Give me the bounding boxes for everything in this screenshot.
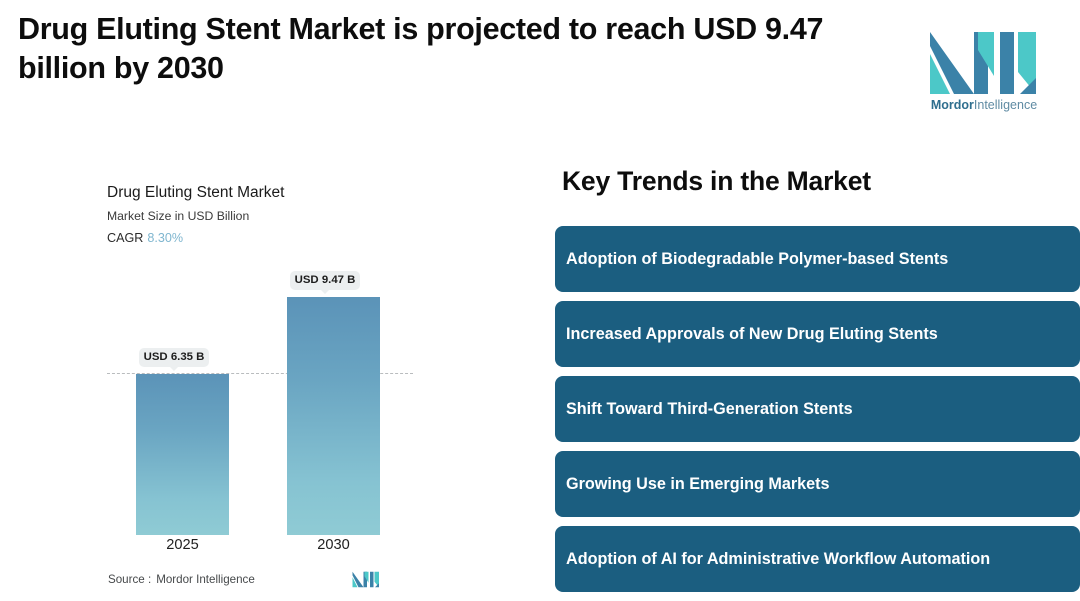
bar-value-label-2030: USD 9.47 B	[290, 271, 360, 290]
source-label: Source :	[108, 573, 151, 586]
bar-2030	[287, 297, 380, 535]
trend-card[interactable]: Increased Approvals of New Drug Eluting …	[555, 301, 1080, 367]
x-axis-label-2030: 2030	[287, 537, 380, 553]
logo-word-intelligence: Intelligence	[974, 98, 1037, 112]
trend-card-label: Increased Approvals of New Drug Eluting …	[566, 322, 938, 346]
trend-card-label: Adoption of AI for Administrative Workfl…	[566, 547, 990, 571]
trend-card[interactable]: Growing Use in Emerging Markets	[555, 451, 1080, 517]
trend-card[interactable]: Shift Toward Third-Generation Stents	[555, 376, 1080, 442]
key-trends-list: Adoption of Biodegradable Polymer-based …	[555, 226, 1080, 601]
trend-card[interactable]: Adoption of Biodegradable Polymer-based …	[555, 226, 1080, 292]
page-title: Drug Eluting Stent Market is projected t…	[18, 10, 898, 88]
trend-card-label: Growing Use in Emerging Markets	[566, 472, 830, 496]
bar-value-label-2025: USD 6.35 B	[139, 348, 209, 367]
key-trends-heading: Key Trends in the Market	[562, 166, 871, 197]
chart-panel: Drug Eluting Stent Market Market Size in…	[0, 150, 540, 599]
mordor-logo-wordmark: MordorIntelligence	[922, 98, 1046, 112]
trend-card-label: Adoption of Biodegradable Polymer-based …	[566, 247, 948, 271]
key-trends-panel: Key Trends in the Market Adoption of Bio…	[555, 150, 1080, 599]
logo-word-mordor: Mordor	[931, 98, 974, 112]
x-axis-label-2025: 2025	[136, 537, 229, 553]
page-header: Drug Eluting Stent Market is projected t…	[0, 0, 1080, 130]
bar-2025	[136, 374, 229, 535]
source-mordor-logo-icon	[352, 571, 380, 588]
bar-chart-plot: USD 6.35 B USD 9.47 B 2025 2030	[0, 150, 540, 599]
chart-source: Source :Mordor Intelligence	[108, 573, 255, 586]
trend-card[interactable]: Adoption of AI for Administrative Workfl…	[555, 526, 1080, 592]
mordor-intelligence-logo: MordorIntelligence	[922, 32, 1046, 114]
mordor-logo-mark	[928, 32, 1040, 94]
source-value: Mordor Intelligence	[156, 573, 255, 586]
trend-card-label: Shift Toward Third-Generation Stents	[566, 397, 853, 421]
